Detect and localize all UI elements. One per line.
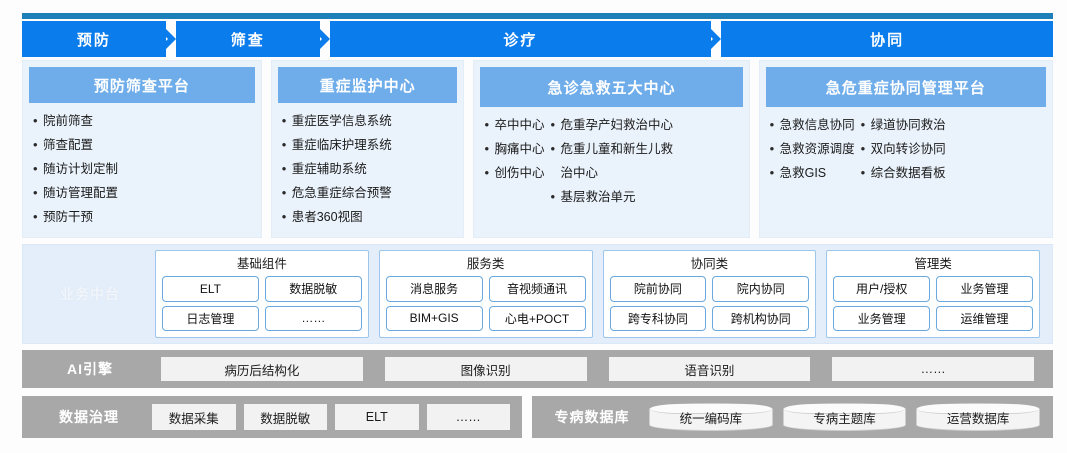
component-chip[interactable]: 音视频通讯 <box>489 276 586 302</box>
ai-capability-chip[interactable]: …… <box>832 357 1034 381</box>
list-item[interactable]: •急救资源调度 <box>770 141 855 157</box>
list-item[interactable]: •危急重症综合预警 <box>282 185 392 201</box>
list-item[interactable]: •院前筛查 <box>33 113 118 129</box>
list-item[interactable]: •急救信息协同 <box>770 117 855 133</box>
list-item-label: 急救资源调度 <box>780 141 855 157</box>
list-item[interactable]: •危重儿童和新生儿救 <box>550 141 742 157</box>
list-item-label: 重症医学信息系统 <box>292 113 392 129</box>
column-body: •急救信息协同•急救资源调度•急救GIS•绿道协同救治•双向转诊协同•综合数据看… <box>760 107 1052 237</box>
column-body: •卒中中心•胸痛中心•创伤中心•危重孕产妇救治中心•危重儿童和新生儿救•治中心•… <box>474 107 748 237</box>
list-item[interactable]: •重症医学信息系统 <box>282 113 392 129</box>
stage-3[interactable]: 诊疗 <box>330 21 712 57</box>
column-header[interactable]: 预防筛查平台 <box>29 67 255 103</box>
list-item[interactable]: •创伤中心 <box>484 165 544 181</box>
bullet-dot-icon: • <box>33 209 43 225</box>
midband-label: 业务中台 <box>30 284 150 304</box>
column-header[interactable]: 急诊急救五大中心 <box>480 67 742 107</box>
bullet-dot-icon: • <box>550 117 560 133</box>
bullet-dot-icon: • <box>282 137 292 153</box>
list-item-label: 重症辅助系统 <box>292 161 367 177</box>
list-item[interactable]: •重症辅助系统 <box>282 161 392 177</box>
capability-column: 重症监护中心•重症医学信息系统•重症临床护理系统•重症辅助系统•危急重症综合预警… <box>271 60 465 238</box>
list-item-label: 重症临床护理系统 <box>292 137 392 153</box>
midband-groups: 基础组件ELT数据脱敏日志管理……服务类消息服务音视频通讯BIM+GIS心电+P… <box>150 250 1045 338</box>
chevron-right-icon <box>703 21 721 57</box>
bullet-list: •危重孕产妇救治中心•危重儿童和新生儿救•治中心•基层救治单元 <box>550 117 742 233</box>
list-item-label: 治中心 <box>560 165 598 181</box>
component-chip[interactable]: 数据脱敏 <box>265 276 362 302</box>
bullet-dot-icon: • <box>770 165 780 181</box>
bullet-list: •重症医学信息系统•重症临床护理系统•重症辅助系统•危急重症综合预警•患者360… <box>282 113 392 233</box>
list-item[interactable]: •治中心 <box>550 165 742 181</box>
bullet-dot-icon: • <box>282 113 292 129</box>
component-chip[interactable]: ELT <box>162 276 259 302</box>
governance-chip[interactable]: ELT <box>335 404 419 430</box>
list-item[interactable]: •综合数据看板 <box>861 165 1046 181</box>
list-item-label: 绿道协同救治 <box>871 117 946 133</box>
component-group: 管理类用户/授权业务管理业务管理运维管理 <box>826 250 1040 338</box>
disease-database-band: 专病数据库 统一编码库专病主题库运营数据库 <box>532 396 1053 438</box>
list-item-label: 急救信息协同 <box>780 117 855 133</box>
database-label: 统一编码库 <box>680 408 743 427</box>
list-item-label: 危重儿童和新生儿救 <box>560 141 673 157</box>
list-item[interactable]: •随访管理配置 <box>33 185 118 201</box>
list-item-label: 筛查配置 <box>43 137 93 153</box>
column-body: •重症医学信息系统•重症临床护理系统•重症辅助系统•危急重症综合预警•患者360… <box>272 103 464 237</box>
list-item-label: 创伤中心 <box>494 165 544 181</box>
list-item[interactable]: •胸痛中心 <box>484 141 544 157</box>
component-group-title: 协同类 <box>610 255 810 273</box>
list-item[interactable]: •绿道协同救治 <box>861 117 1046 133</box>
component-chip-grid: ELT数据脱敏日志管理…… <box>162 276 362 331</box>
bullet-dot-icon: • <box>33 113 43 129</box>
bullet-dot-icon: • <box>861 165 871 181</box>
component-chip[interactable]: 运维管理 <box>936 306 1033 332</box>
list-item[interactable]: •急救GIS <box>770 165 855 181</box>
component-chip[interactable]: 跨机构协同 <box>712 306 809 332</box>
database-cylinder-icon[interactable]: 运营数据库 <box>916 403 1040 431</box>
bullet-dot-icon: • <box>770 141 780 157</box>
component-chip[interactable]: 业务管理 <box>833 306 930 332</box>
architecture-diagram: 预防筛查诊疗协同 预防筛查平台•院前筛查•筛查配置•随访计划定制•随访管理配置•… <box>0 0 1067 453</box>
bullet-dot-icon: • <box>282 185 292 201</box>
bullet-dot-icon: • <box>770 117 780 133</box>
list-item-label: 基层救治单元 <box>560 189 635 205</box>
list-item-label: 预防干预 <box>43 209 93 225</box>
bullet-dot-icon: • <box>33 185 43 201</box>
stage-label: 筛查 <box>231 29 265 50</box>
component-chip[interactable]: 心电+POCT <box>489 306 586 332</box>
component-chip-grid: 消息服务音视频通讯BIM+GIS心电+POCT <box>386 276 586 331</box>
database-label: 运营数据库 <box>947 408 1010 427</box>
column-header[interactable]: 重症监护中心 <box>278 67 458 103</box>
component-group-title: 服务类 <box>386 255 586 273</box>
ai-engine-chips: 病历后结构化图像识别语音识别…… <box>150 357 1045 381</box>
bullet-dot-icon: • <box>282 161 292 177</box>
component-group-title: 管理类 <box>833 255 1033 273</box>
stage-1[interactable]: 预防 <box>22 21 166 57</box>
column-body: •院前筛查•筛查配置•随访计划定制•随访管理配置•预防干预 <box>23 103 261 237</box>
component-chip[interactable]: …… <box>265 306 362 332</box>
data-governance-band: 数据治理 数据采集数据脱敏ELT…… <box>22 396 522 438</box>
stage-4[interactable]: 协同 <box>721 21 1053 57</box>
top-rail-divider <box>22 13 1053 19</box>
disease-database-label: 专病数据库 <box>540 407 644 427</box>
governance-chip[interactable]: 数据采集 <box>152 404 236 430</box>
list-item[interactable]: •基层救治单元 <box>550 189 742 205</box>
component-group: 基础组件ELT数据脱敏日志管理…… <box>155 250 369 338</box>
bottom-bands: 数据治理 数据采集数据脱敏ELT…… 专病数据库 统一编码库专病主题库运营数据库 <box>22 396 1053 438</box>
list-item[interactable]: •预防干预 <box>33 209 118 225</box>
stage-label: 协同 <box>870 29 904 50</box>
ai-engine-band: AI引擎 病历后结构化图像识别语音识别…… <box>22 350 1053 388</box>
database-cylinder-icon[interactable]: 专病主题库 <box>783 403 907 431</box>
business-middle-platform-band: 业务中台 基础组件ELT数据脱敏日志管理……服务类消息服务音视频通讯BIM+GI… <box>22 244 1053 344</box>
component-chip-grid: 院前协同院内协同跨专科协同跨机构协同 <box>610 276 810 331</box>
bullet-dot-icon: • <box>861 117 871 133</box>
component-chip[interactable]: 院内协同 <box>712 276 809 302</box>
bullet-dot-icon: • <box>33 161 43 177</box>
list-item-label: 危重孕产妇救治中心 <box>560 117 673 133</box>
list-item-label: 院前筛查 <box>43 113 93 129</box>
list-item-label: 随访管理配置 <box>43 185 118 201</box>
bullet-list: •绿道协同救治•双向转诊协同•综合数据看板 <box>861 117 1046 233</box>
list-item[interactable]: •卒中中心 <box>484 117 544 133</box>
list-item-label: 综合数据看板 <box>871 165 946 181</box>
bullet-dot-icon: • <box>550 189 560 205</box>
component-chip[interactable]: 跨专科协同 <box>610 306 707 332</box>
list-item-label: 危急重症综合预警 <box>292 185 392 201</box>
stage-label: 诊疗 <box>503 29 537 50</box>
list-item[interactable]: •危重孕产妇救治中心 <box>550 117 742 133</box>
list-item[interactable]: •重症临床护理系统 <box>282 137 392 153</box>
component-chip[interactable]: 业务管理 <box>936 276 1033 302</box>
stage-label: 预防 <box>77 29 111 50</box>
ai-capability-chip[interactable]: 图像识别 <box>385 357 587 381</box>
component-group: 服务类消息服务音视频通讯BIM+GIS心电+POCT <box>379 250 593 338</box>
list-item[interactable]: •患者360视图 <box>282 209 392 225</box>
component-chip[interactable]: 院前协同 <box>610 276 707 302</box>
chevron-right-icon <box>312 21 330 57</box>
data-governance-chips: 数据采集数据脱敏ELT…… <box>148 404 514 430</box>
list-item-label: 患者360视图 <box>292 209 363 225</box>
component-chip[interactable]: 日志管理 <box>162 306 259 332</box>
chevron-right-icon <box>158 21 176 57</box>
ai-capability-chip[interactable]: 语音识别 <box>609 357 811 381</box>
stage-banner: 预防筛查诊疗协同 <box>22 21 1053 57</box>
component-group: 协同类院前协同院内协同跨专科协同跨机构协同 <box>603 250 817 338</box>
list-item-label: 胸痛中心 <box>494 141 544 157</box>
capability-column: 预防筛查平台•院前筛查•筛查配置•随访计划定制•随访管理配置•预防干预 <box>22 60 262 238</box>
list-item-label: 随访计划定制 <box>43 161 118 177</box>
list-item-label: 急救GIS <box>780 165 827 181</box>
column-header[interactable]: 急危重症协同管理平台 <box>766 67 1046 107</box>
bullet-dot-icon: • <box>861 141 871 157</box>
list-item[interactable]: •随访计划定制 <box>33 161 118 177</box>
bullet-dot-icon: • <box>484 165 494 181</box>
list-item[interactable]: •筛查配置 <box>33 137 118 153</box>
data-governance-label: 数据治理 <box>30 407 148 427</box>
list-item[interactable]: •双向转诊协同 <box>861 141 1046 157</box>
bullet-dot-icon: • <box>550 141 560 157</box>
ai-engine-label: AI引擎 <box>30 359 150 379</box>
list-item-label: 卒中中心 <box>494 117 544 133</box>
capability-columns: 预防筛查平台•院前筛查•筛查配置•随访计划定制•随访管理配置•预防干预重症监护中… <box>22 60 1053 238</box>
database-label: 专病主题库 <box>813 408 876 427</box>
governance-chip[interactable]: 数据脱敏 <box>244 404 328 430</box>
bullet-dot-icon: • <box>33 137 43 153</box>
component-group-title: 基础组件 <box>162 255 362 273</box>
bullet-list: •急救信息协同•急救资源调度•急救GIS <box>770 117 855 233</box>
bullet-dot-icon: • <box>282 209 292 225</box>
stage-2[interactable]: 筛查 <box>176 21 320 57</box>
disease-database-chips: 统一编码库专病主题库运营数据库 <box>644 403 1045 431</box>
bullet-list: •卒中中心•胸痛中心•创伤中心 <box>484 117 544 233</box>
component-chip[interactable]: BIM+GIS <box>386 306 483 332</box>
bullet-list: •院前筛查•筛查配置•随访计划定制•随访管理配置•预防干预 <box>33 113 118 233</box>
governance-chip[interactable]: …… <box>427 404 511 430</box>
bullet-dot-icon: • <box>484 117 494 133</box>
capability-column: 急诊急救五大中心•卒中中心•胸痛中心•创伤中心•危重孕产妇救治中心•危重儿童和新… <box>473 60 749 238</box>
component-chip[interactable]: 用户/授权 <box>833 276 930 302</box>
component-chip-grid: 用户/授权业务管理业务管理运维管理 <box>833 276 1033 331</box>
ai-capability-chip[interactable]: 病历后结构化 <box>161 357 363 381</box>
list-item-label: 双向转诊协同 <box>871 141 946 157</box>
capability-column: 急危重症协同管理平台•急救信息协同•急救资源调度•急救GIS•绿道协同救治•双向… <box>759 60 1053 238</box>
database-cylinder-icon[interactable]: 统一编码库 <box>649 403 773 431</box>
bullet-dot-icon: • <box>484 141 494 157</box>
component-chip[interactable]: 消息服务 <box>386 276 483 302</box>
